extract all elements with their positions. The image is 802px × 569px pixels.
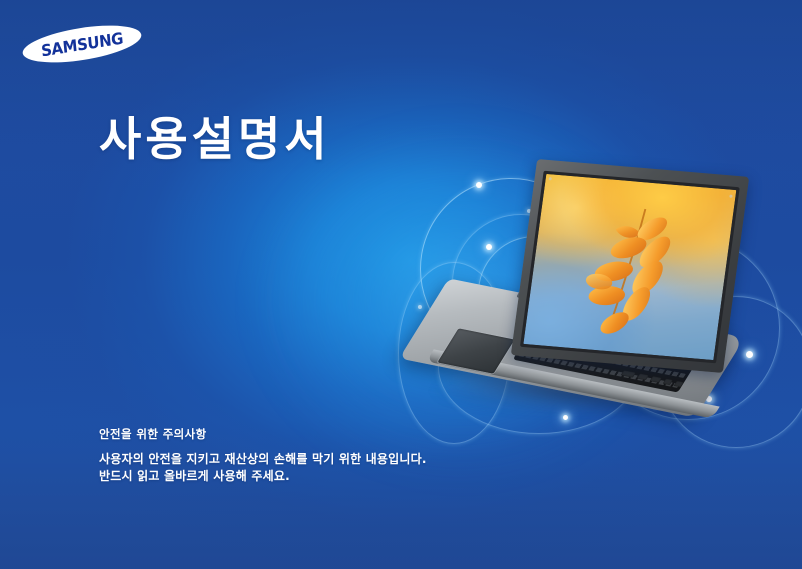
samsung-logo: SAMSUNG — [22, 24, 142, 64]
laptop-bezel — [520, 171, 740, 364]
laptop-lid — [511, 159, 749, 373]
safety-notice-block: 안전을 위한 주의사항 사용자의 안전을 지키고 재산상의 손해를 막기 위한 … — [99, 426, 427, 486]
manual-cover-page: SAMSUNG 사용설명서 안전을 위한 주의사항 사용자의 안전을 지키고 재… — [0, 0, 802, 569]
samsung-logo-text: SAMSUNG — [20, 19, 144, 69]
safety-notice-line-1: 사용자의 안전을 지키고 재산상의 손해를 막기 위한 내용입니다. — [99, 451, 427, 468]
node-dot-right-mid — [746, 351, 753, 358]
safety-notice-heading: 안전을 위한 주의사항 — [99, 426, 427, 442]
safety-notice-line-2: 반드시 읽고 올바르게 사용해 주세요. — [99, 468, 427, 485]
laptop-product-image — [424, 168, 734, 418]
node-dot-left-edge — [418, 305, 422, 309]
laptop-screen — [523, 174, 736, 360]
samsung-logo-wordmark: SAMSUNG — [40, 28, 124, 60]
autumn-leaves-wallpaper — [523, 174, 736, 360]
page-title: 사용설명서 — [99, 112, 331, 167]
